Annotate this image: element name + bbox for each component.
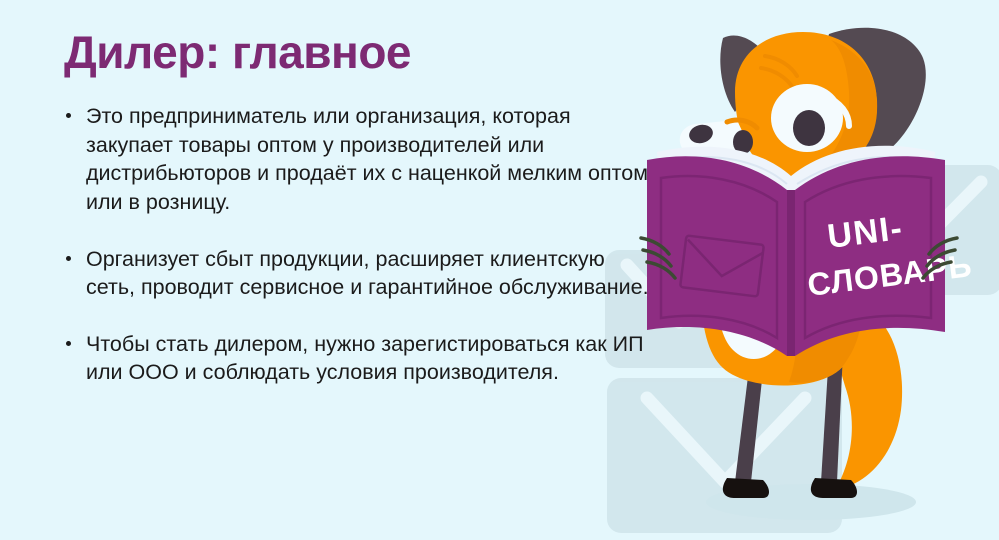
slide-root: Дилер: главное Это предприниматель или о…	[0, 0, 999, 540]
list-item-text: Организует сбыт продукции, расширяет кли…	[86, 247, 649, 300]
list-item: Организует сбыт продукции, расширяет кли…	[64, 245, 650, 302]
book-spine	[787, 190, 795, 356]
list-item: Это предприниматель или организация, кот…	[64, 102, 650, 216]
page-title: Дилер: главное	[64, 28, 650, 76]
book-cover-left	[647, 156, 787, 356]
bullet-dot-icon	[66, 341, 71, 346]
fox-reading-book-illustration: UNI- СЛОВАРЬ	[639, 0, 999, 540]
list-item: Чтобы стать дилером, нужно зарегистирова…	[64, 330, 650, 387]
bullet-dot-icon	[66, 256, 71, 261]
fox-foot-left	[723, 478, 769, 498]
list-item-text: Это предприниматель или организация, кот…	[86, 104, 648, 214]
list-item-text: Чтобы стать дилером, нужно зарегистирова…	[86, 332, 644, 385]
bullet-dot-icon	[66, 113, 71, 118]
text-content-column: Дилер: главное Это предприниматель или о…	[0, 0, 660, 540]
bullet-list: Это предприниматель или организация, кот…	[64, 102, 650, 387]
fox-foot-right	[811, 478, 857, 498]
fox-eye-pupil	[793, 110, 825, 146]
